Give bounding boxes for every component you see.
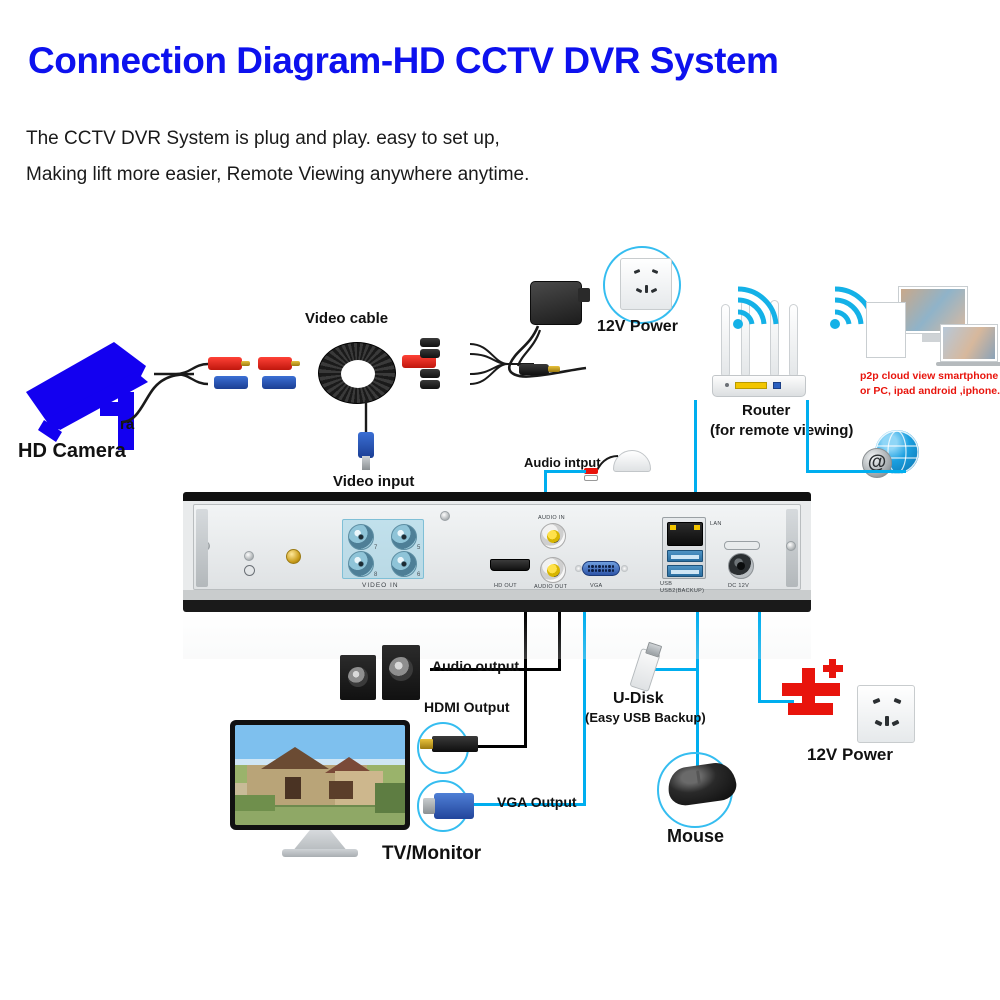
- page-title: Connection Diagram-HD CCTV DVR System: [28, 40, 778, 82]
- wire-audio-in-h: [544, 470, 586, 473]
- panel-screw-top: [440, 511, 450, 521]
- vga-port[interactable]: [582, 561, 620, 576]
- video-in-group: 7 5 8 6: [342, 519, 424, 579]
- power-12v-label-top: 12V Power: [597, 318, 678, 336]
- dvr-rear-panel: 7 5 8 6 VIDEO IN HD OUT AUDIO IN AUDIO O…: [183, 492, 811, 612]
- usb-port-2[interactable]: [667, 565, 703, 577]
- bnc-num-7: 7: [374, 545, 377, 551]
- ground-symbol-icon: [244, 565, 255, 576]
- multi-device-viewing-icon: [866, 286, 998, 368]
- audio-output-label: Audio output: [432, 658, 519, 674]
- usb2-text: USB2(BACKUP): [660, 588, 704, 594]
- bnc-port-8[interactable]: [348, 551, 374, 577]
- audio-out-port[interactable]: [540, 557, 566, 583]
- dc-12v-port[interactable]: [728, 553, 754, 579]
- subtitle-line-2: Making lift more easier, Remote Viewing …: [26, 164, 529, 186]
- bnc-plug-tip: [362, 456, 370, 470]
- wifi-router-icon: [712, 375, 806, 397]
- adapter-cable: [500, 320, 610, 390]
- dvr-panel-face: 7 5 8 6 VIDEO IN HD OUT AUDIO IN AUDIO O…: [193, 504, 801, 590]
- adapter-dc-tip: [548, 366, 560, 372]
- wall-socket-icon-top: [620, 258, 672, 310]
- rca-mic-white: [584, 475, 598, 481]
- dc-plug-1: [420, 338, 440, 347]
- subtitle-line-1: The CCTV DVR System is plug and play. ea…: [26, 128, 500, 150]
- ground-screw: [244, 551, 254, 561]
- wire-router-to-internet-v: [806, 400, 809, 473]
- vga-screw-right: [621, 565, 628, 572]
- power-adapter-icon: [530, 281, 582, 325]
- at-symbol-icon: @: [862, 448, 892, 478]
- monitor-screen: [235, 725, 405, 825]
- hd-camera-label: HD Camera: [18, 440, 126, 463]
- hdmi-connector-icon: [432, 736, 478, 752]
- wire-router-to-internet-h: [806, 470, 906, 473]
- udisk-label-line2: (Easy USB Backup): [585, 710, 706, 725]
- tv-monitor-label: TV/Monitor: [382, 843, 481, 865]
- rca-pin-1: [241, 361, 250, 366]
- bnc-port-5[interactable]: [391, 524, 417, 550]
- router-antenna-4: [789, 304, 798, 378]
- bnc-video-input-plug: [358, 432, 374, 458]
- bnc-num-5: 5: [417, 545, 420, 551]
- lan-usb-group: [662, 517, 706, 579]
- lan-text: LAN: [710, 521, 722, 527]
- bnc-connector-blue-2: [262, 376, 296, 389]
- adapter-dc-plug: [519, 364, 549, 375]
- bnc-num-6: 6: [417, 572, 420, 578]
- dvr-reflection: [183, 613, 811, 659]
- dc-plug-4: [420, 380, 440, 389]
- mouse-label: Mouse: [667, 826, 724, 847]
- speaker-pair-icon: [340, 645, 430, 700]
- router-label-line1: Router: [742, 402, 790, 419]
- hdmi-output-label: HDMI Output: [424, 699, 510, 715]
- vga-connector-icon: [434, 793, 474, 819]
- monitor-base: [282, 849, 358, 857]
- bnc-num-8: 8: [374, 572, 377, 578]
- video-in-text: VIDEO IN: [362, 582, 399, 589]
- wire-hdmi-v: [524, 590, 527, 748]
- video-cable-coil: [318, 342, 396, 404]
- p2p-cloud-text-line1: p2p cloud view smartphone: [860, 370, 998, 382]
- audio-out-text: AUDIO OUT: [534, 584, 567, 590]
- wall-socket-icon-bottom: [857, 685, 915, 743]
- audio-in-text: AUDIO IN: [538, 515, 565, 521]
- rca-pin-2: [291, 361, 300, 366]
- p2p-cloud-text-line2: or PC, ipad android ,iphone.: [860, 385, 1000, 397]
- dc-text: DC 12V: [728, 583, 749, 589]
- audio-in-port[interactable]: [540, 523, 566, 549]
- dc-polarity-marking: [724, 541, 760, 550]
- wire-udisk-h: [655, 668, 699, 671]
- usb-port-1[interactable]: [667, 550, 703, 562]
- polarity-bar-mid: [788, 703, 833, 715]
- cable-split-wire: [150, 356, 220, 396]
- vga-output-label: VGA Output: [497, 794, 577, 810]
- dc-plug-3: [420, 369, 440, 378]
- dc-plug-2: [420, 349, 440, 358]
- hd-out-text: HD OUT: [494, 583, 517, 589]
- panel-screw-right: [786, 541, 796, 551]
- router-label-line2: (for remote viewing): [710, 422, 853, 439]
- vga-screw-left: [575, 565, 582, 572]
- polarity-plus-v: [829, 659, 836, 678]
- bnc-port-6[interactable]: [391, 551, 417, 577]
- panel-bracket-left: [196, 509, 208, 587]
- power-12v-label-bottom: 12V Power: [807, 745, 893, 765]
- udisk-label-line1: U-Disk: [613, 690, 664, 708]
- wire-vga-v: [583, 590, 586, 806]
- video-input-label: Video input: [333, 473, 414, 490]
- tv-monitor-icon: [230, 720, 410, 830]
- usb-text: USB: [660, 581, 672, 587]
- vga-text: VGA: [590, 583, 603, 589]
- bnc-port-7[interactable]: [348, 524, 374, 550]
- rca-connector-red-2: [258, 357, 292, 370]
- rca-mic-red: [584, 468, 598, 474]
- video-cable-label: Video cable: [305, 310, 388, 327]
- certification-badge-icon: [286, 549, 301, 564]
- hdmi-port[interactable]: [490, 559, 530, 571]
- wire-hdmi-h: [478, 745, 527, 748]
- wifi-signal-icon-left: [728, 284, 784, 330]
- lan-port[interactable]: [667, 522, 703, 546]
